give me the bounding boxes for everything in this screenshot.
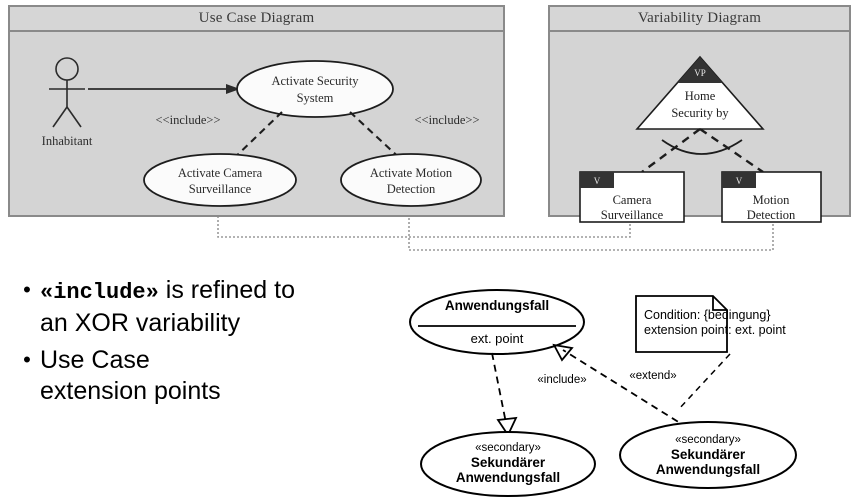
use-case-label-line1: Activate Motion xyxy=(370,166,453,180)
xor-constraint xyxy=(642,129,763,172)
variability-graphics: VP Home Security by V Camera Surveillan xyxy=(550,32,849,217)
note-line2: extension point: ext. point xyxy=(644,323,786,337)
bullet-content: «include» is refined to an XOR variabili… xyxy=(40,275,295,339)
secondary-stereotype: «secondary» xyxy=(675,434,741,446)
vp-label-line2: Security by xyxy=(671,106,729,120)
use-case-name: Anwendungsfall xyxy=(445,298,549,313)
use-case-secondary-extend[interactable]: «secondary» Sekundärer Anwendungsfall xyxy=(620,422,796,488)
variant-tag-label: V xyxy=(736,176,743,186)
bullet-content: Use Case extension points xyxy=(40,345,221,407)
actor-label: Inhabitant xyxy=(42,134,93,148)
list-item: • «include» is refined to an XOR variabi… xyxy=(14,275,414,339)
use-case-activate-security-system[interactable]: Activate Security System xyxy=(237,61,393,117)
use-case-panel-title: Use Case Diagram xyxy=(199,10,315,27)
variant-label-line2: Surveillance xyxy=(601,208,664,222)
extend-relation-label: «extend» xyxy=(629,370,676,382)
variability-panel-title: Variability Diagram xyxy=(638,10,761,27)
variant-label-line1: Motion xyxy=(753,193,791,207)
bullet-rest-line1: is refined to xyxy=(159,276,295,304)
secondary-name-line2: Anwendungsfall xyxy=(656,462,760,477)
secondary-name-line1: Sekundärer xyxy=(471,455,546,470)
variant-label-line2: Detection xyxy=(747,208,796,222)
extension-point-diagram: Anwendungsfall ext. point Condition: {be… xyxy=(410,280,866,503)
variant-tag-label: V xyxy=(594,176,601,186)
use-case-activate-camera-surveillance[interactable]: Activate Camera Surveillance xyxy=(144,154,296,206)
condition-note[interactable]: Condition: {bedingung} extension point: … xyxy=(620,296,786,353)
bullet-mono-keyword: «include» xyxy=(40,280,159,305)
use-case-extension-point: ext. point xyxy=(471,331,524,346)
bullet-marker: • xyxy=(14,345,40,375)
use-case-label-line1: Activate Camera xyxy=(178,166,263,180)
list-item: • Use Case extension points xyxy=(14,345,414,407)
stereotype-include-right: <<include>> xyxy=(415,113,480,127)
secondary-stereotype: «secondary» xyxy=(475,442,541,454)
extend-relation-arrow xyxy=(554,345,688,428)
use-case-anwendungsfall[interactable]: Anwendungsfall ext. point xyxy=(410,290,584,354)
actor-inhabitant[interactable] xyxy=(49,58,85,127)
bullet-list: • «include» is refined to an XOR variabi… xyxy=(14,275,414,413)
use-case-panel-body: Inhabitant Activate Security System xyxy=(10,32,503,215)
variant-motion-detection[interactable]: V Motion Detection xyxy=(722,172,821,222)
variant-label-line1: Camera xyxy=(613,193,652,207)
use-case-activate-motion-detection[interactable]: Activate Motion Detection xyxy=(341,154,481,206)
variability-diagram-panel: Variability Diagram VP Home xyxy=(548,5,851,217)
bullet-line2: an XOR variability xyxy=(40,309,240,337)
use-case-panel-header: Use Case Diagram xyxy=(10,7,503,32)
variation-point-home-security[interactable]: VP Home Security by xyxy=(637,57,763,129)
use-case-secondary-include[interactable]: «secondary» Sekundärer Anwendungsfall xyxy=(421,432,595,496)
vp-tag-label: VP xyxy=(694,68,706,78)
use-case-label-line2: Detection xyxy=(387,182,436,196)
actor-association xyxy=(88,84,240,94)
variability-panel-header: Variability Diagram xyxy=(550,7,849,32)
bullet-marker: • xyxy=(14,275,40,305)
bullet-line2: extension points xyxy=(40,377,221,405)
use-case-label-line2: Surveillance xyxy=(189,182,252,196)
use-case-graphics: Inhabitant Activate Security System xyxy=(10,32,503,217)
stereotype-include-left: <<include>> xyxy=(156,113,221,127)
vp-label-line1: Home xyxy=(685,89,716,103)
use-case-diagram-panel: Use Case Diagram Inhabitant xyxy=(8,5,505,217)
slide-canvas: Use Case Diagram Inhabitant xyxy=(0,0,866,503)
include-relation-arrow xyxy=(492,353,516,435)
secondary-name-line1: Sekundärer xyxy=(671,447,746,462)
variability-panel-body: VP Home Security by V Camera Surveillan xyxy=(550,32,849,215)
include-relation-label: «include» xyxy=(537,374,586,386)
use-case-label-line2: System xyxy=(297,91,334,105)
variant-camera-surveillance[interactable]: V Camera Surveillance xyxy=(580,172,684,222)
note-line1: Condition: {bedingung} xyxy=(644,308,771,322)
note-anchor-line xyxy=(678,354,730,410)
use-case-label-line1: Activate Security xyxy=(271,74,359,88)
bullet-rest-line1: Use Case xyxy=(40,346,150,374)
secondary-name-line2: Anwendungsfall xyxy=(456,470,560,485)
